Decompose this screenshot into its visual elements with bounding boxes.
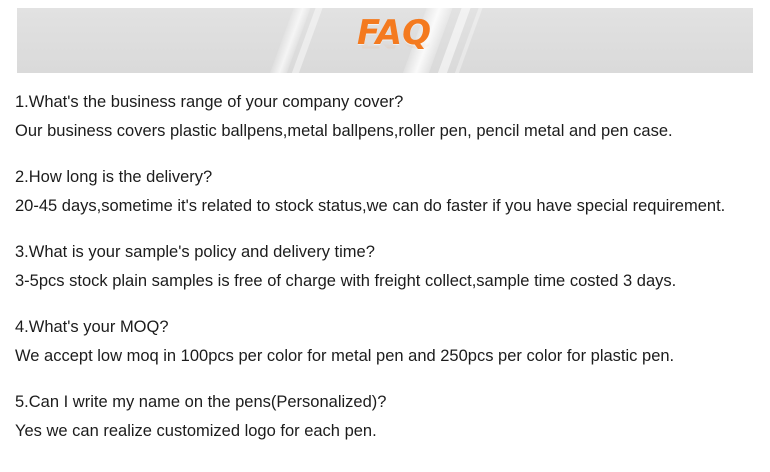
faq-question: 1.What's the business range of your comp…: [15, 88, 757, 117]
faq-title-container: FAQ FAQ: [17, 8, 753, 73]
faq-list: 1.What's the business range of your comp…: [15, 88, 757, 446]
faq-answer: 3-5pcs stock plain samples is free of ch…: [15, 267, 757, 296]
faq-answer: 20-45 days,sometime it's related to stoc…: [15, 192, 757, 221]
faq-question: 3.What is your sample's policy and deliv…: [15, 238, 757, 267]
faq-answer: Our business covers plastic ballpens,met…: [15, 117, 757, 146]
faq-page: FAQ FAQ 1.What's the business range of y…: [0, 0, 770, 472]
faq-item: 5.Can I write my name on the pens(Person…: [15, 388, 757, 446]
faq-question: 4.What's your MOQ?: [15, 313, 757, 342]
faq-item: 4.What's your MOQ? We accept low moq in …: [15, 313, 757, 371]
faq-header-banner: FAQ FAQ: [17, 8, 753, 73]
faq-answer: Yes we can realize customized logo for e…: [15, 417, 757, 446]
faq-item: 3.What is your sample's policy and deliv…: [15, 238, 757, 296]
faq-question: 2.How long is the delivery?: [15, 163, 757, 192]
faq-item: 1.What's the business range of your comp…: [15, 88, 757, 146]
faq-item: 2.How long is the delivery? 20-45 days,s…: [15, 163, 757, 221]
faq-answer: We accept low moq in 100pcs per color fo…: [15, 342, 757, 371]
faq-question: 5.Can I write my name on the pens(Person…: [15, 388, 757, 417]
page-title-reflection: FAQ: [357, 42, 431, 50]
